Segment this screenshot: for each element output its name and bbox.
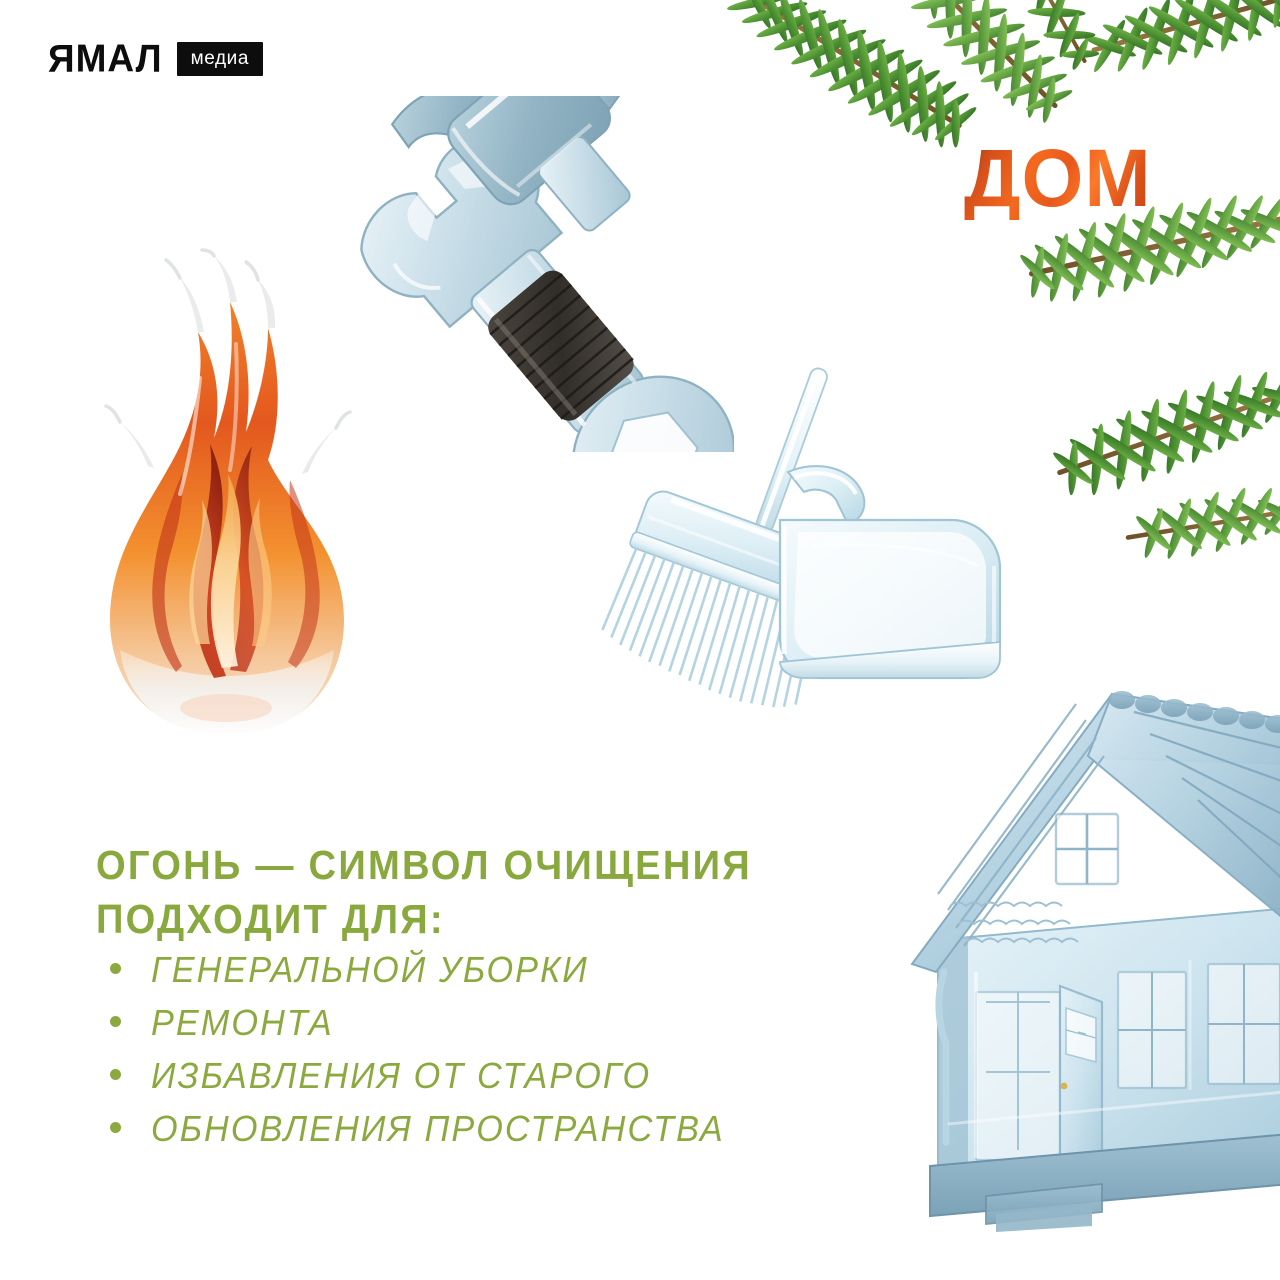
brand-logo-wordmark: ЯМАЛ	[48, 39, 163, 78]
headline: ОГОНЬ — СИМВОЛ ОЧИЩЕНИЯ ПОДХОДИТ ДЛЯ:	[96, 838, 859, 946]
headline-line-2: ПОДХОДИТ ДЛЯ:	[96, 892, 859, 946]
list-item: ОБНОВЛЕНИЯ ПРОСТРАНСТВА	[96, 1111, 916, 1164]
brand-logo-badge: медиа	[177, 42, 263, 76]
headline-line-1: ОГОНЬ — СИМВОЛ ОЧИЩЕНИЯ	[96, 838, 859, 892]
list-item-label: ОБНОВЛЕНИЯ ПРОСТРАНСТВА	[151, 1111, 725, 1147]
spruce-branches-artwork	[596, 0, 1280, 566]
bullet-dot-icon	[110, 963, 121, 974]
glass-broom-and-dustpan-artwork	[556, 358, 1036, 764]
list-item-label: ИЗБАВЛЕНИЯ ОТ СТАРОГО	[151, 1058, 651, 1094]
list-item: РЕМОНТА	[96, 1005, 916, 1058]
list-item-label: РЕМОНТА	[151, 1005, 334, 1041]
poster-canvas: ЯМАЛ медиа ДОМ ОГОНЬ — СИМВОЛ ОЧИЩЕНИЯ П…	[0, 0, 1280, 1280]
category-label: ДОМ	[964, 138, 1152, 220]
brand-logo[interactable]: ЯМАЛ медиа	[48, 40, 263, 77]
glass-flame-sculpture-artwork	[96, 248, 358, 744]
list-item: ГЕНЕРАЛЬНОЙ УБОРКИ	[96, 952, 916, 1005]
list-item: ИЗБАВЛЕНИЯ ОТ СТАРОГО	[96, 1058, 916, 1111]
glass-house-model-artwork	[890, 672, 1280, 1232]
bullet-dot-icon	[110, 1069, 121, 1080]
glass-wrench-and-hammer-artwork	[330, 96, 734, 452]
list-item-label: ГЕНЕРАЛЬНОЙ УБОРКИ	[151, 952, 589, 988]
bullet-list: ГЕНЕРАЛЬНОЙ УБОРКИ РЕМОНТА ИЗБАВЛЕНИЯ ОТ…	[96, 952, 916, 1164]
bullet-dot-icon	[110, 1016, 121, 1027]
bullet-dot-icon	[110, 1122, 121, 1133]
copy-block: ОГОНЬ — СИМВОЛ ОЧИЩЕНИЯ ПОДХОДИТ ДЛЯ: ГЕ…	[96, 838, 916, 1164]
